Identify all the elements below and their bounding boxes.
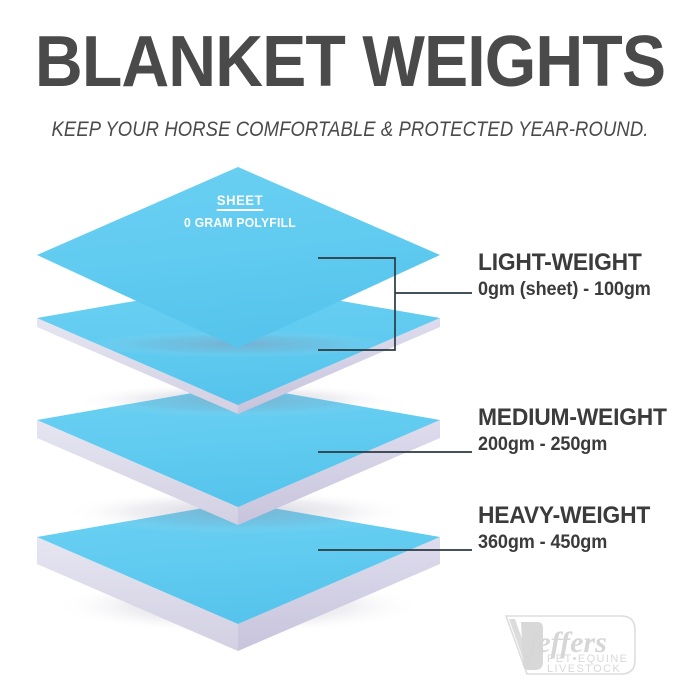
callout-heavy-weight-value: 360gm - 450gm <box>478 532 689 554</box>
sheet-overlay-label: SHEET 0 GRAM POLYFILL <box>138 192 343 230</box>
callout-light-weight-value: 0gm (sheet) - 100gm <box>478 279 689 301</box>
callout-heavy-weight-title: HEAVY-WEIGHT <box>478 503 689 529</box>
callout-medium-weight: MEDIUM-WEIGHT 200gm - 250gm <box>478 405 700 456</box>
callout-light-weight-title: LIGHT-WEIGHT <box>478 250 689 276</box>
sheet-label-title: SHEET <box>217 192 263 211</box>
jeffers-logo: jeffers PET•EQUINE LIVESTOCK <box>503 612 643 678</box>
blanket-stack-illustration <box>0 0 700 700</box>
callout-medium-weight-value: 200gm - 250gm <box>478 434 689 456</box>
infographic-canvas: BLANKET WEIGHTS KEEP YOUR HORSE COMFORTA… <box>0 0 700 700</box>
callout-light-weight: LIGHT-WEIGHT 0gm (sheet) - 100gm <box>478 250 700 301</box>
callout-medium-weight-title: MEDIUM-WEIGHT <box>478 405 689 431</box>
callout-heavy-weight: HEAVY-WEIGHT 360gm - 450gm <box>478 503 700 554</box>
sheet-label-subtitle: 0 GRAM POLYFILL <box>138 215 343 230</box>
logo-tagline-line2: LIVESTOCK <box>547 663 621 675</box>
